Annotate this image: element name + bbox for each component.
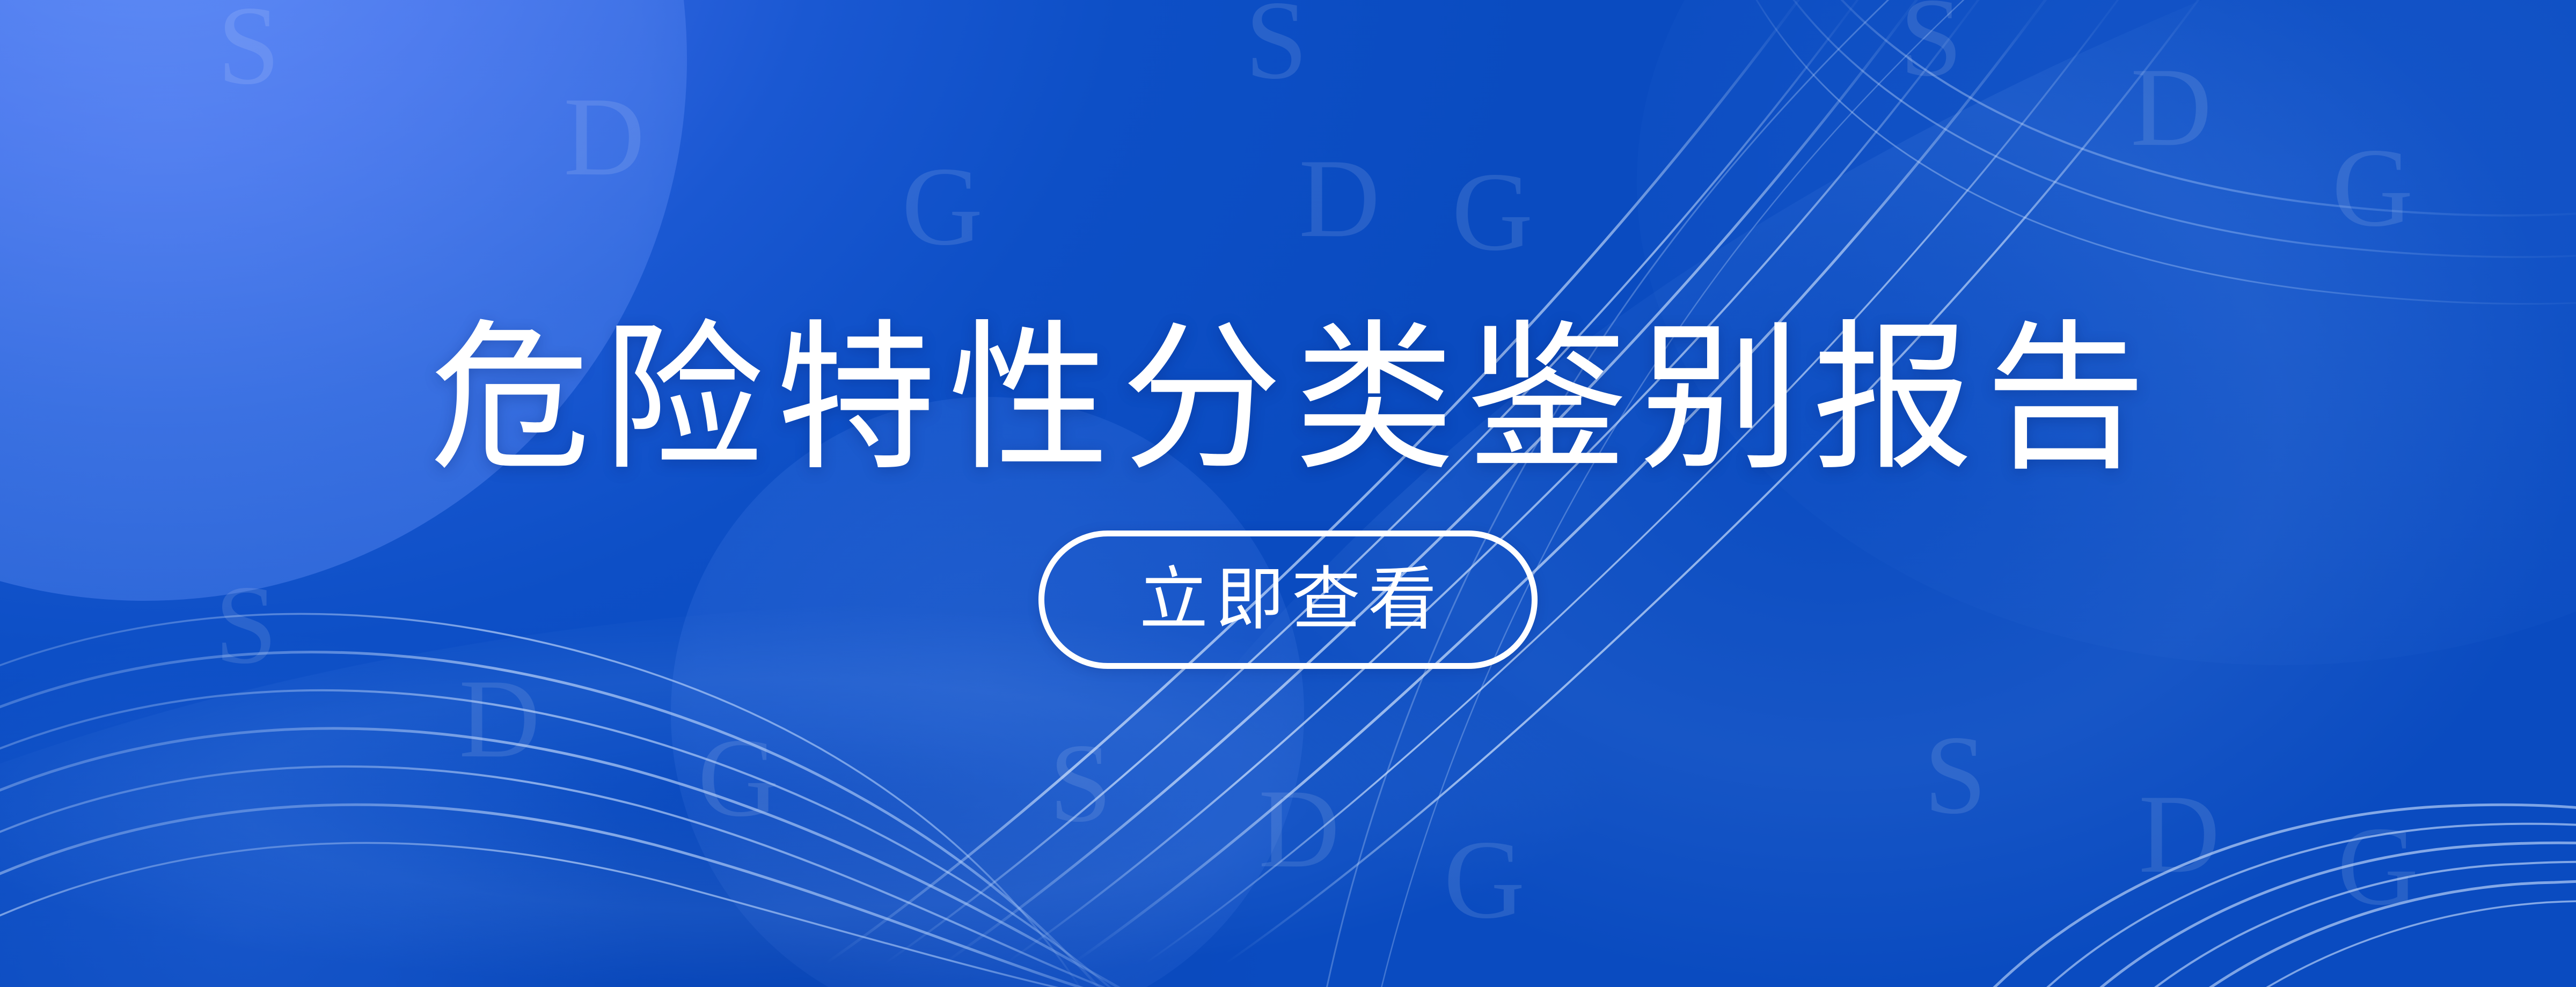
page-title: 危险特性分类鉴别报告 [418,318,2158,479]
banner-root: SDGSDGSDGSDGSDGSDG [0,0,2576,987]
banner-content: 危险特性分类鉴别报告 立即查看 [0,0,2576,987]
view-now-button-label: 立即查看 [1132,565,1444,634]
view-now-button[interactable]: 立即查看 [1038,531,1538,669]
